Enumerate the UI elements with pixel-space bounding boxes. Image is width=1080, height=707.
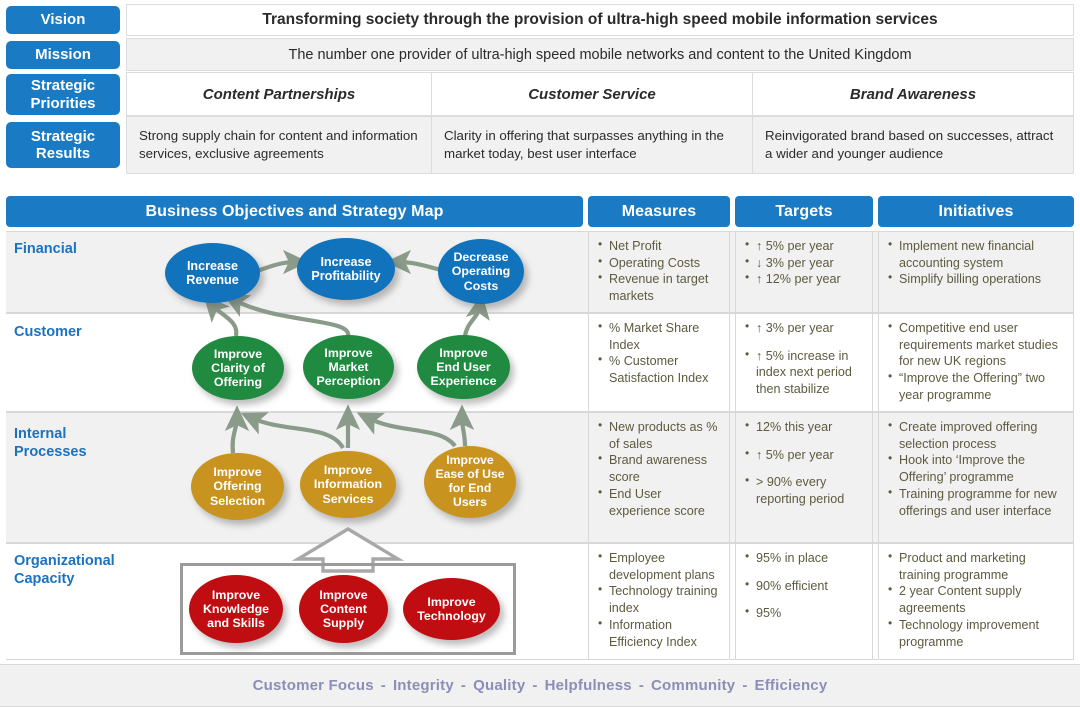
objective-improve-content-supply[interactable]: Improve Content Supply: [299, 575, 388, 643]
objective-improve-technology[interactable]: Improve Technology: [403, 578, 500, 640]
mission-statement: The number one provider of ultra-high sp…: [126, 38, 1074, 71]
strategic-result-1: Strong supply chain for content and info…: [126, 116, 432, 174]
objective-increase-profitability[interactable]: Increase Profitability: [297, 238, 395, 300]
objective-improve-market-perception[interactable]: Improve Market Perception: [303, 335, 394, 399]
objective-improve-clarity-of-offering[interactable]: Improve Clarity of Offering: [192, 336, 284, 400]
strategic-result-2-text: Clarity in offering that surpasses anyth…: [432, 127, 752, 163]
strategic-priority-2: Customer Service: [431, 72, 753, 116]
objective-improve-end-user-experience[interactable]: Improve End User Experience: [417, 335, 510, 399]
vision-statement: Transforming society through the provisi…: [126, 4, 1074, 36]
strategic-result-3: Reinvigorated brand based on successes, …: [752, 116, 1074, 174]
strategic-result-1-text: Strong supply chain for content and info…: [127, 127, 431, 163]
row-label-strategic-results: Strategic Results: [6, 122, 120, 168]
strategic-result-3-text: Reinvigorated brand based on successes, …: [753, 127, 1073, 163]
strategic-result-2: Clarity in offering that surpasses anyth…: [431, 116, 753, 174]
row-label-strategic-priorities: Strategic Priorities: [6, 74, 120, 115]
strategic-priority-1: Content Partnerships: [126, 72, 432, 116]
strategy-arrows: [0, 196, 1080, 707]
row-label-vision: Vision: [6, 6, 120, 34]
row-label-mission: Mission: [6, 41, 120, 69]
vision-mission-table: Vision Transforming society through the …: [0, 0, 1080, 178]
objective-decrease-operating-costs[interactable]: Decrease Operating Costs: [438, 239, 524, 304]
objective-improve-ease-of-use-for-end-users[interactable]: Improve Ease of Use for End Users: [424, 446, 516, 518]
strategic-priority-3: Brand Awareness: [752, 72, 1074, 116]
strategy-map-page: Vision Transforming society through the …: [0, 0, 1080, 707]
objective-improve-knowledge-and-skills[interactable]: Improve Knowledge and Skills: [189, 575, 283, 643]
objective-increase-revenue[interactable]: Increase Revenue: [165, 243, 260, 303]
objective-improve-offering-selection[interactable]: Improve Offering Selection: [191, 453, 284, 520]
objective-improve-information-services[interactable]: Improve Information Services: [300, 451, 396, 518]
strategy-map-grid: Business Objectives and Strategy Map Mea…: [0, 196, 1080, 707]
